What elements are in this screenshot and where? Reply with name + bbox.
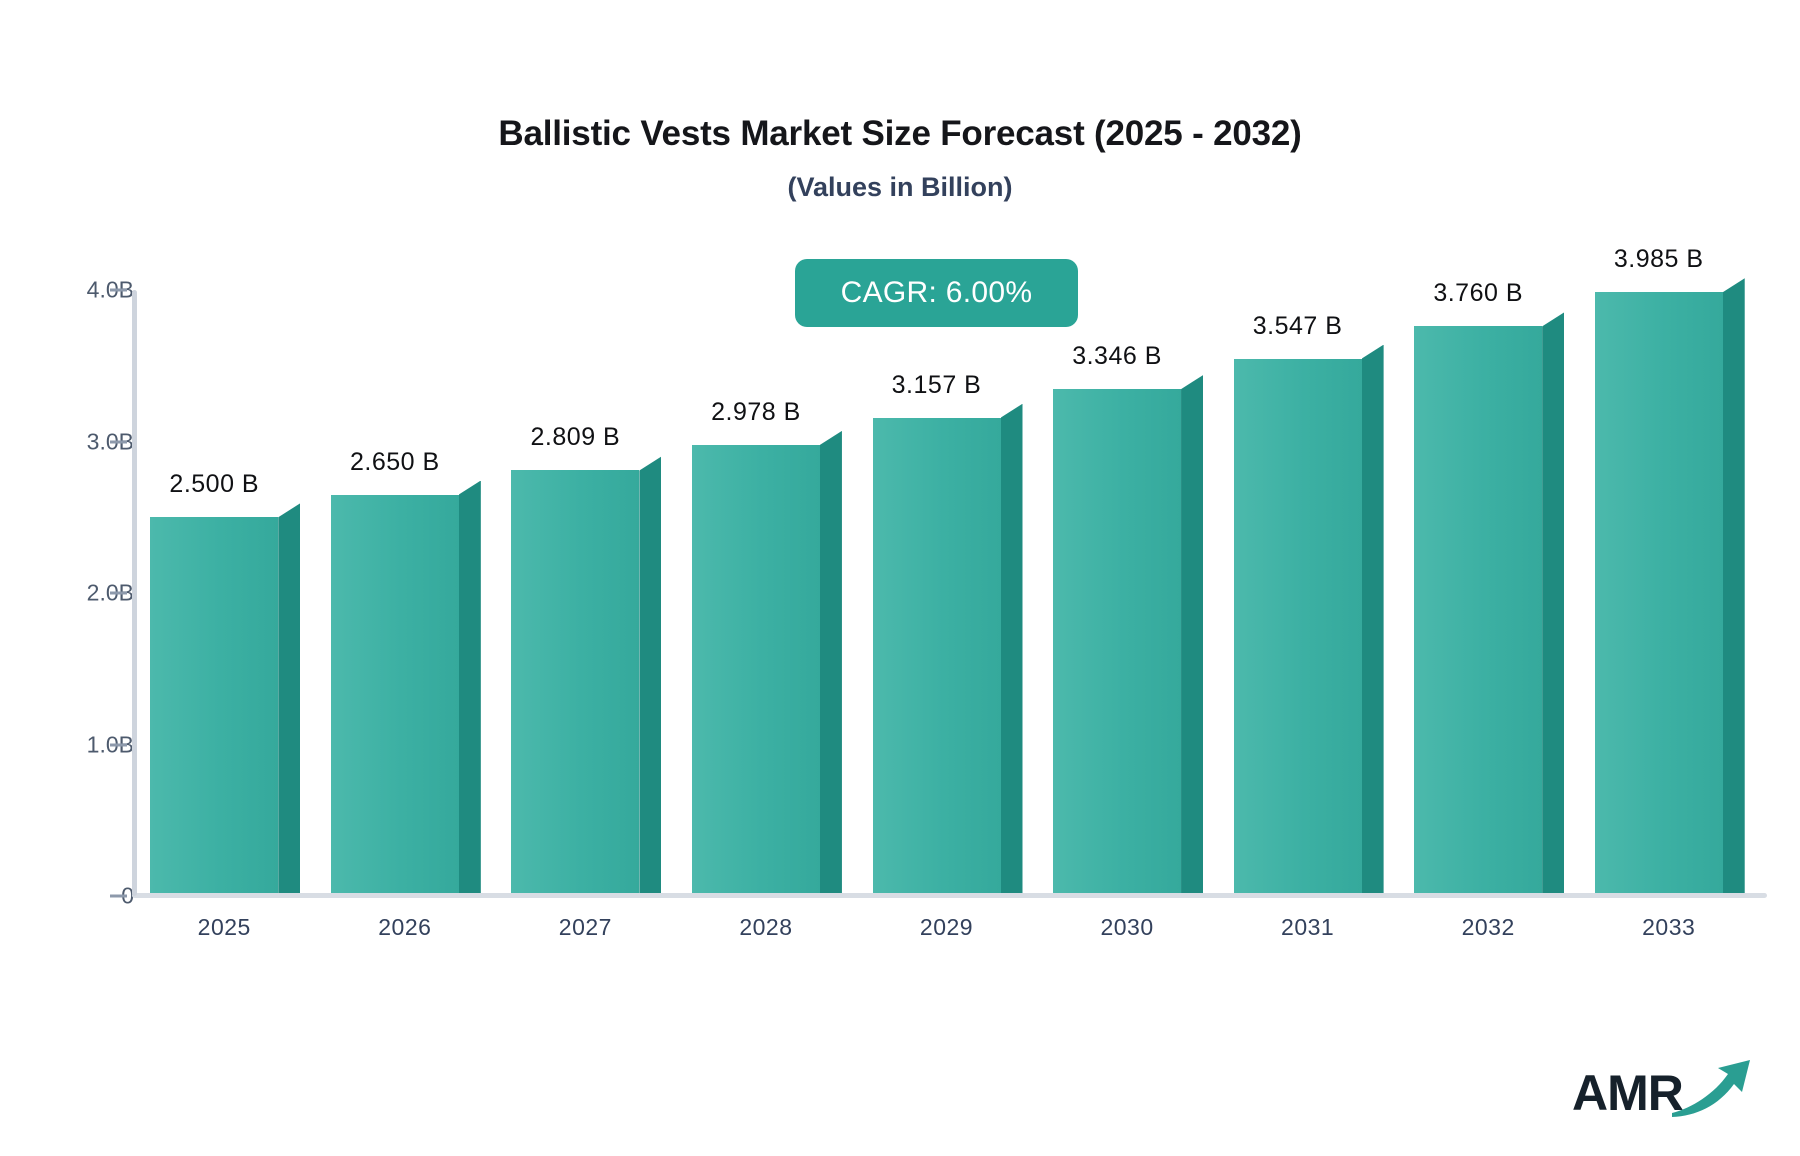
bar-front-face	[873, 418, 1001, 896]
bar-side-face	[1181, 375, 1203, 896]
chart-subtitle: (Values in Billion)	[0, 172, 1800, 203]
bar-shape	[1234, 359, 1362, 896]
bar-shape	[331, 495, 459, 896]
bar-value-label: 3.346 B	[1072, 342, 1162, 371]
bar-series: 2.500 B2.650 B2.809 B2.978 B3.157 B3.346…	[134, 290, 1759, 896]
bar-column[interactable]: 2.978 B	[692, 290, 820, 896]
bar-side-face	[820, 431, 842, 896]
bar-front-face	[692, 445, 820, 896]
x-tick-label: 2029	[920, 914, 973, 941]
bar-column[interactable]: 3.985 B	[1595, 290, 1723, 896]
bar-side-face	[1362, 345, 1384, 896]
bar-shape	[150, 517, 278, 896]
bar-value-label: 2.500 B	[169, 470, 259, 499]
bar-side-face	[459, 481, 481, 896]
bar-shape	[692, 445, 820, 896]
x-tick-label: 2028	[739, 914, 792, 941]
bar-front-face	[150, 517, 278, 896]
bar-shape	[873, 418, 1001, 896]
bar-column[interactable]: 3.346 B	[1053, 290, 1181, 896]
arrow-up-right-icon	[1670, 1056, 1752, 1123]
bar-front-face	[1053, 389, 1181, 896]
bar-side-face	[278, 503, 300, 896]
bar-front-face	[1595, 292, 1723, 896]
page-title: Ballistic Vests Market Size Forecast (20…	[0, 114, 1800, 154]
bar-value-label: 2.650 B	[350, 448, 440, 477]
plot-area: 4.0B3.0B2.0B1.0B0 2.500 B2.650 B2.809 B2…	[134, 290, 1759, 896]
bar-front-face	[1414, 326, 1542, 896]
bar-side-face	[1723, 278, 1745, 896]
y-tick-dash	[110, 895, 127, 898]
bar-value-label: 2.978 B	[711, 398, 801, 427]
bar-front-face	[511, 470, 639, 896]
bar-side-face	[1542, 312, 1564, 896]
x-tick-label: 2032	[1462, 914, 1515, 941]
bar-side-face	[1001, 404, 1023, 896]
bar-value-label: 3.157 B	[892, 371, 982, 400]
x-axis-line	[132, 893, 1767, 898]
chart-canvas: Ballistic Vests Market Size Forecast (20…	[0, 0, 1800, 1156]
bar-side-face	[639, 456, 661, 896]
y-axis-line	[132, 290, 137, 896]
bar-value-label: 3.985 B	[1614, 245, 1704, 274]
bar-shape	[511, 470, 639, 896]
cagr-badge-label: CAGR: 6.00%	[841, 276, 1033, 310]
y-tick-dash	[110, 289, 127, 292]
bar-column[interactable]: 3.157 B	[873, 290, 1001, 896]
y-tick-dash	[110, 743, 127, 746]
amr-logo: AMR	[1572, 1052, 1752, 1132]
y-tick-dash	[110, 592, 127, 595]
cagr-badge: CAGR: 6.00%	[795, 259, 1078, 327]
bar-shape	[1414, 326, 1542, 896]
bar-column[interactable]: 2.500 B	[150, 290, 278, 896]
x-tick-label: 2033	[1642, 914, 1695, 941]
x-tick-label: 2027	[559, 914, 612, 941]
bar-value-label: 2.809 B	[531, 423, 621, 452]
x-tick-label: 2026	[378, 914, 431, 941]
x-tick-label: 2031	[1281, 914, 1334, 941]
bar-shape	[1595, 292, 1723, 896]
x-tick-label: 2030	[1100, 914, 1153, 941]
bar-value-label: 3.760 B	[1433, 279, 1523, 308]
bar-column[interactable]: 2.809 B	[511, 290, 639, 896]
x-tick-label: 2025	[198, 914, 251, 941]
bar-shape	[1053, 389, 1181, 896]
bar-column[interactable]: 3.547 B	[1234, 290, 1362, 896]
logo-text: AMR	[1572, 1064, 1683, 1122]
bar-front-face	[331, 495, 459, 896]
bar-front-face	[1234, 359, 1362, 896]
bar-column[interactable]: 3.760 B	[1414, 290, 1542, 896]
bar-value-label: 3.547 B	[1253, 312, 1343, 341]
bar-column[interactable]: 2.650 B	[331, 290, 459, 896]
y-tick-dash	[110, 440, 127, 443]
